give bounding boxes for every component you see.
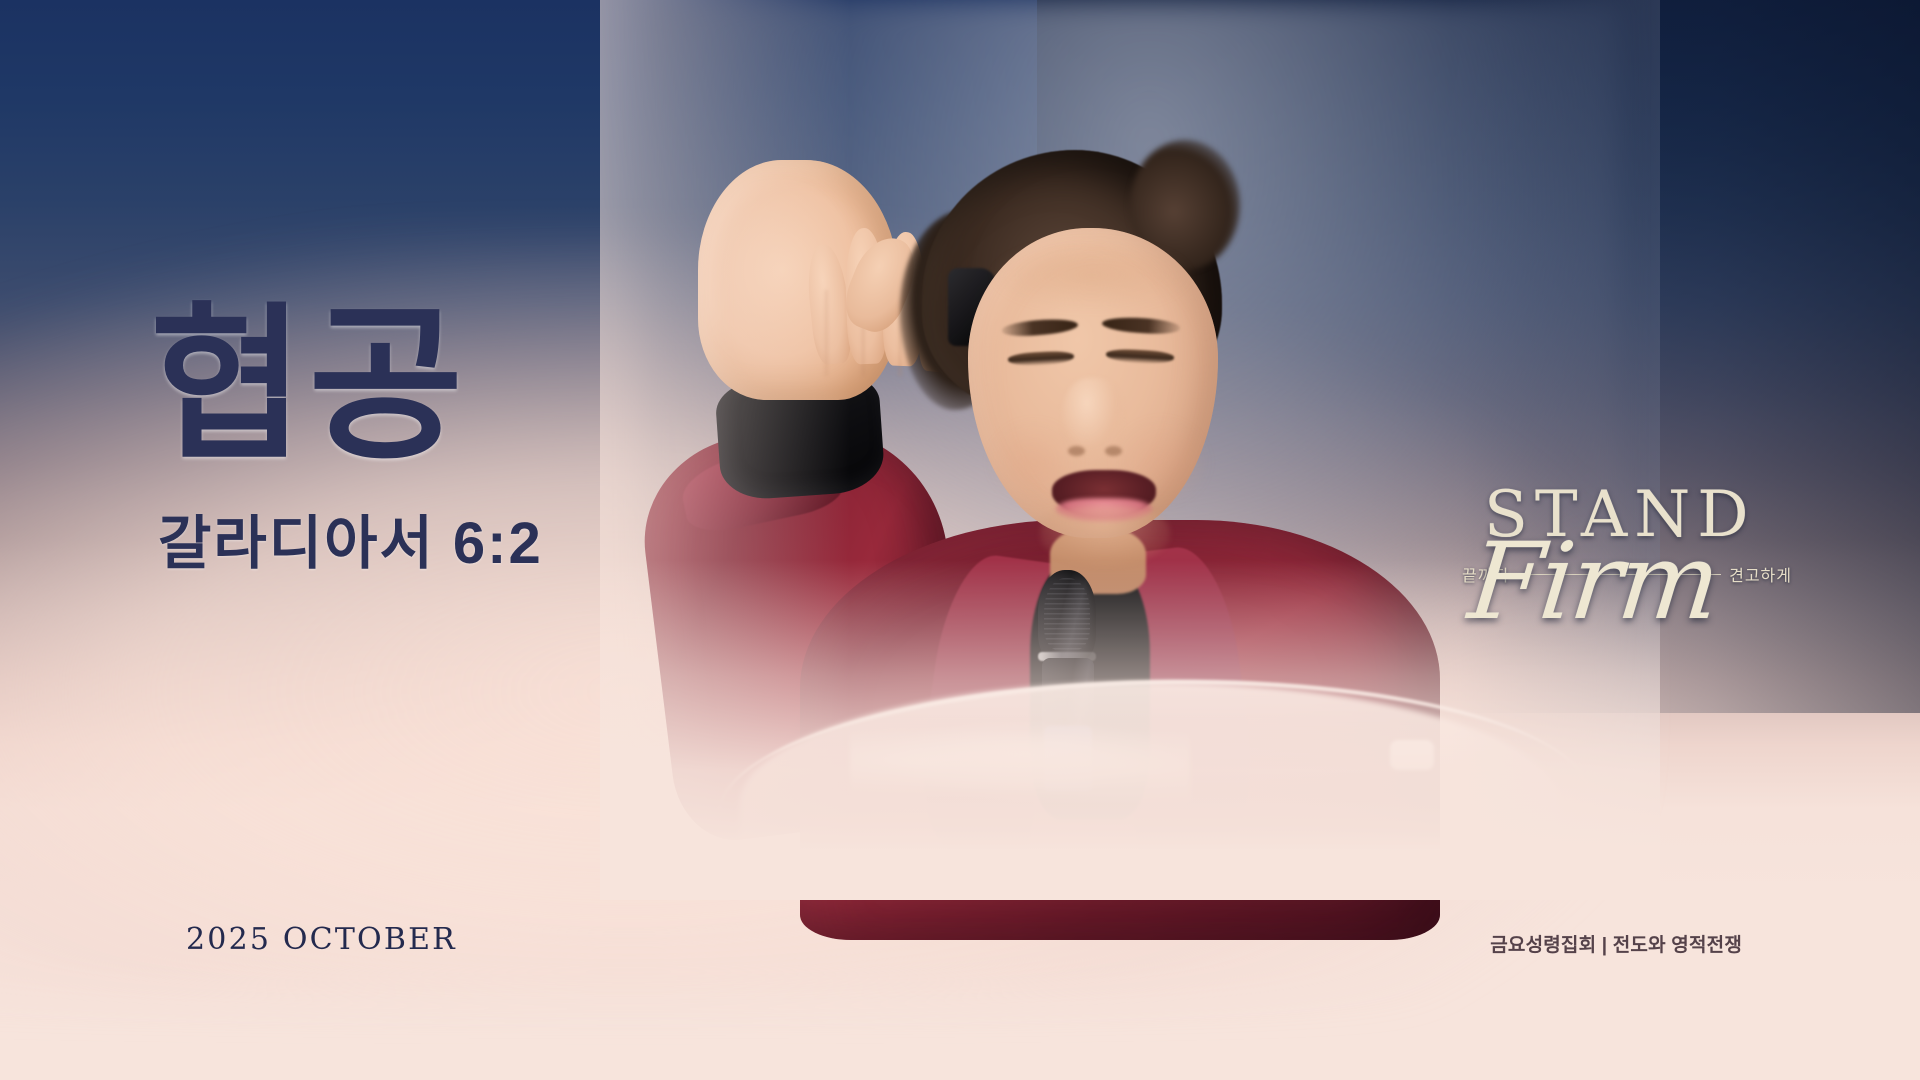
date-label: 2025 OCTOBER bbox=[186, 922, 457, 957]
chin bbox=[1040, 506, 1170, 566]
title-block: 협공 갈라디아서 6:2 bbox=[150, 300, 710, 580]
logo-subtitle-right: 견고하게 bbox=[1729, 562, 1792, 586]
footer-note: 금요성령집회 | 전도와 영적전쟁 bbox=[1490, 930, 1742, 957]
sermon-title: 협공 bbox=[150, 300, 710, 468]
stand-firm-logo: STAND 끝까지 견고하게 Firm bbox=[1462, 478, 1792, 668]
nostril-right bbox=[1105, 446, 1122, 456]
logo-word-firm: Firm bbox=[1464, 520, 1724, 643]
scripture-reference: 갈라디아서 6:2 bbox=[158, 496, 710, 580]
speaker-photo-content bbox=[600, 0, 1660, 900]
forehead bbox=[992, 240, 1192, 310]
nostril-left bbox=[1068, 446, 1085, 456]
speaker-photo bbox=[600, 0, 1660, 900]
slide-canvas: 협공 갈라디아서 6:2 2025 OCTOBER STAND 끝까지 견고하게… bbox=[0, 0, 1920, 1080]
